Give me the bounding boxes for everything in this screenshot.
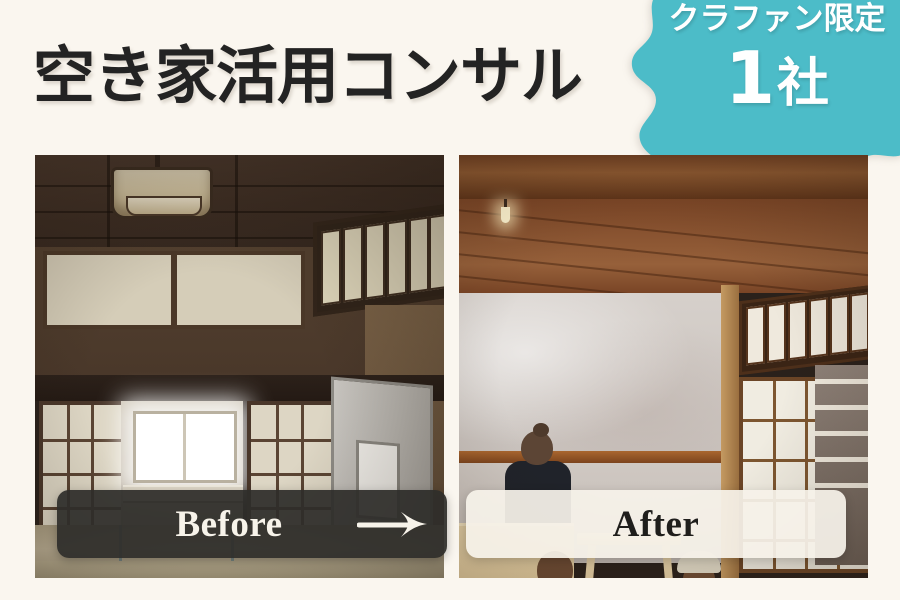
- badge-count-number: 1: [725, 36, 775, 120]
- badge-count-unit: 社: [777, 54, 829, 114]
- page-title: 空き家活用コンサル: [33, 30, 633, 122]
- before-label: Before: [175, 503, 282, 546]
- after-label: After: [613, 503, 700, 546]
- arrow-right-icon: [357, 507, 431, 541]
- promo-banner: 空き家活用コンサル クラファン限定 1社: [0, 0, 900, 600]
- badge-title: クラファン限定: [652, 0, 900, 39]
- before-label-chip: Before: [57, 490, 447, 558]
- badge-count-group: 1社: [652, 41, 900, 117]
- after-label-chip: After: [466, 490, 846, 558]
- badge-text-group: クラファン限定 1社: [652, 0, 900, 116]
